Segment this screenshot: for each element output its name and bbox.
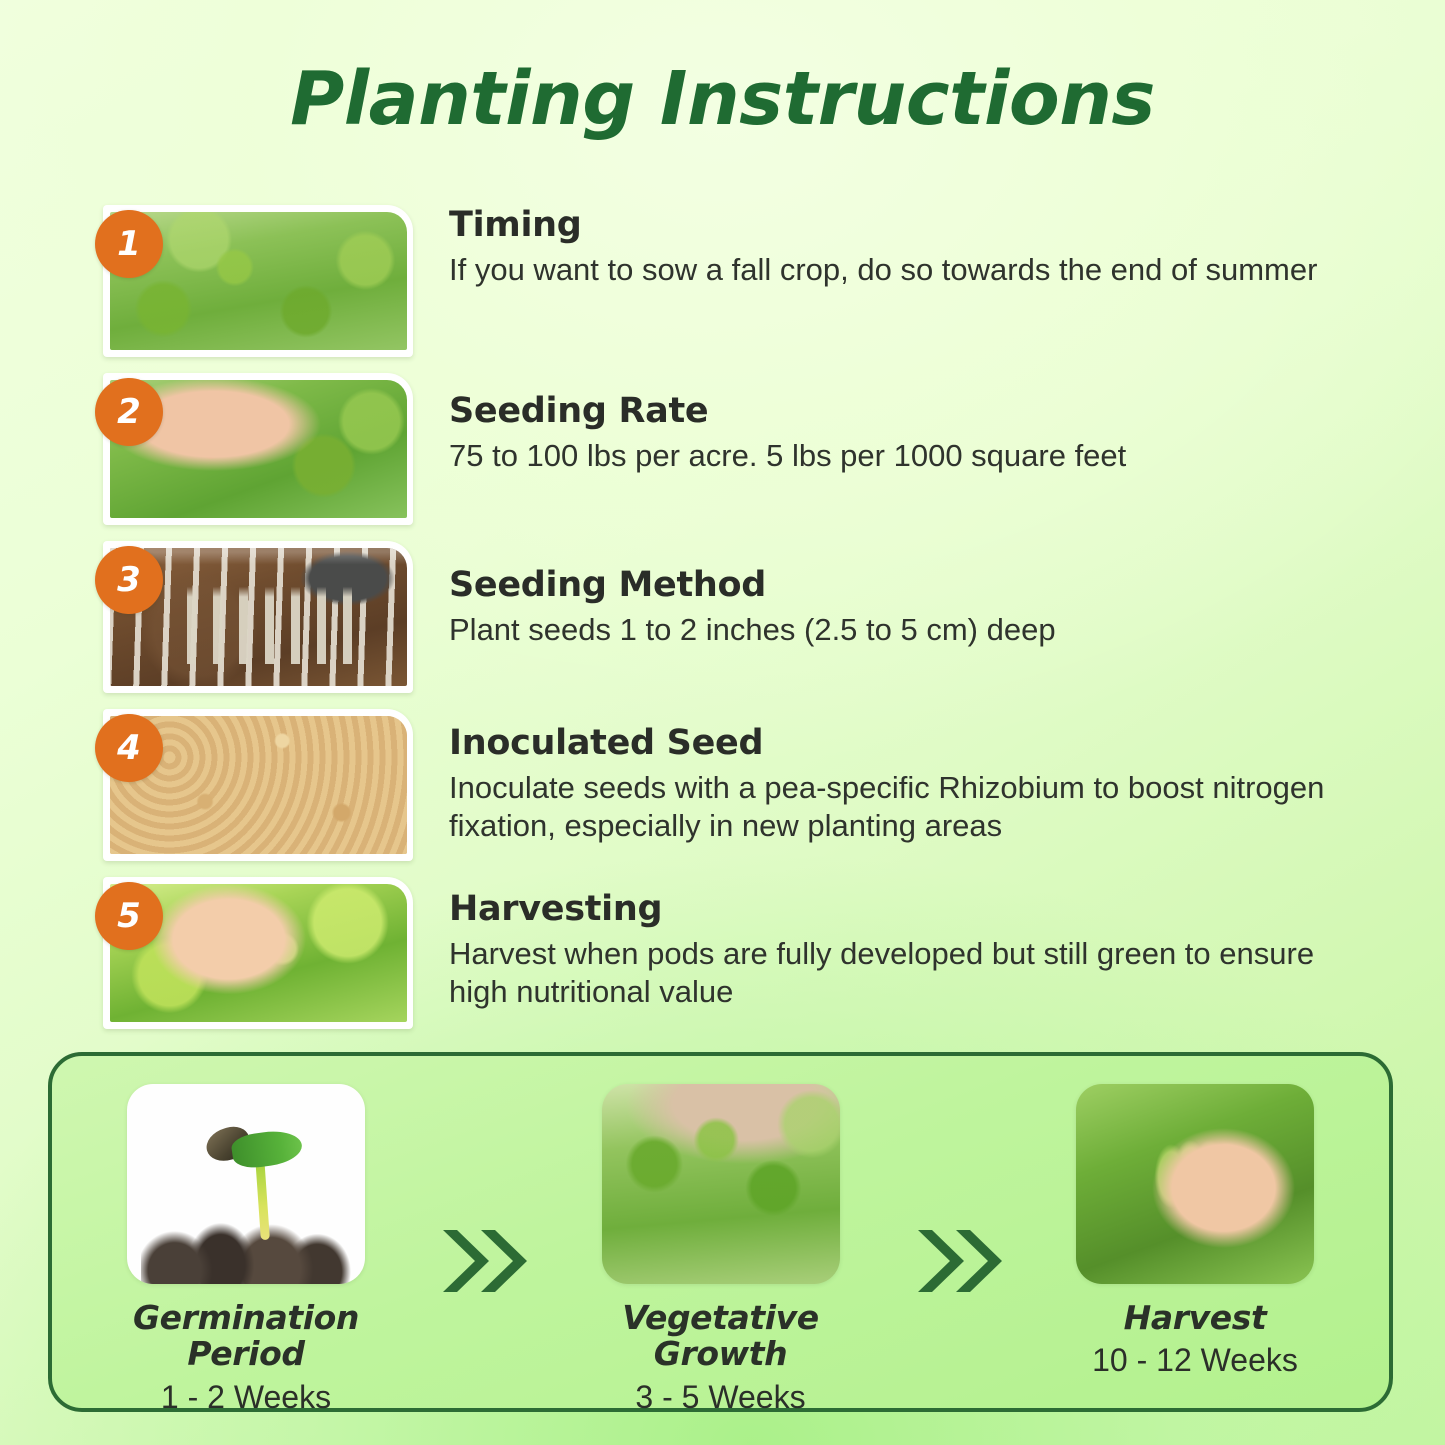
step-item: 5 Harvesting Harvest when pods are fully… [0, 877, 1445, 1045]
step-item: 2 Seeding Rate 75 to 100 lbs per acre. 5… [0, 373, 1445, 541]
step-title: Harvesting [449, 889, 1349, 929]
step-text: Timing If you want to sow a fall crop, d… [449, 205, 1349, 289]
step-title: Inoculated Seed [449, 723, 1349, 763]
step-media: 2 [95, 373, 413, 528]
step-number-badge: 1 [95, 210, 163, 278]
step-description: 75 to 100 lbs per acre. 5 lbs per 1000 s… [449, 437, 1349, 475]
timeline-phase-vegetative: Vegetative Growth 3 - 5 Weeks [571, 1084, 871, 1418]
step-number-badge: 2 [95, 378, 163, 446]
step-number-badge: 5 [95, 882, 163, 950]
step-text: Inoculated Seed Inoculate seeds with a p… [449, 709, 1349, 845]
timeline-phase-duration: 10 - 12 Weeks [1045, 1340, 1345, 1382]
step-media: 4 [95, 709, 413, 864]
timeline-phase-duration: 1 - 2 Weeks [96, 1377, 396, 1419]
timeline-phase-label: Harvest [1045, 1300, 1345, 1336]
step-description: Inoculate seeds with a pea-specific Rhiz… [449, 769, 1349, 845]
timeline-phase-label: Vegetative Growth [571, 1300, 871, 1373]
growth-timeline-panel: Germination Period 1 - 2 Weeks Vegetativ… [48, 1052, 1393, 1412]
step-description: If you want to sow a fall crop, do so to… [449, 251, 1349, 289]
step-media: 1 [95, 205, 413, 360]
step-number-badge: 4 [95, 714, 163, 782]
step-item: 4 Inoculated Seed Inoculate seeds with a… [0, 709, 1445, 877]
young-pea-plants-photo [602, 1084, 840, 1284]
timeline-phase-harvest: Harvest 10 - 12 Weeks [1045, 1084, 1345, 1382]
step-title: Seeding Method [449, 565, 1349, 605]
step-text: Seeding Method Plant seeds 1 to 2 inches… [449, 541, 1349, 649]
timeline-phase-duration: 3 - 5 Weeks [571, 1377, 871, 1419]
double-chevron-right-icon [428, 1224, 538, 1298]
step-description: Plant seeds 1 to 2 inches (2.5 to 5 cm) … [449, 611, 1349, 649]
step-title: Timing [449, 205, 1349, 245]
sprouting-seed-photo [127, 1084, 365, 1284]
step-description: Harvest when pods are fully developed bu… [449, 935, 1349, 1011]
growth-timeline: Germination Period 1 - 2 Weeks Vegetativ… [52, 1056, 1389, 1408]
timeline-phase-germination: Germination Period 1 - 2 Weeks [96, 1084, 396, 1418]
step-title: Seeding Rate [449, 391, 1349, 431]
step-item: 1 Timing If you want to sow a fall crop,… [0, 205, 1445, 373]
infographic-page: Planting Instructions 1 Timing If you wa… [0, 0, 1445, 1445]
page-title: Planting Instructions [0, 62, 1445, 136]
hand-holding-pea-pods-photo [1076, 1084, 1314, 1284]
step-media: 3 [95, 541, 413, 696]
step-text: Harvesting Harvest when pods are fully d… [449, 877, 1349, 1011]
double-chevron-right-icon [903, 1224, 1013, 1298]
step-item: 3 Seeding Method Plant seeds 1 to 2 inch… [0, 541, 1445, 709]
timeline-phase-label: Germination Period [96, 1300, 396, 1373]
soil-shape [141, 1216, 350, 1284]
step-number-badge: 3 [95, 546, 163, 614]
step-text: Seeding Rate 75 to 100 lbs per acre. 5 l… [449, 373, 1349, 475]
step-media: 5 [95, 877, 413, 1032]
